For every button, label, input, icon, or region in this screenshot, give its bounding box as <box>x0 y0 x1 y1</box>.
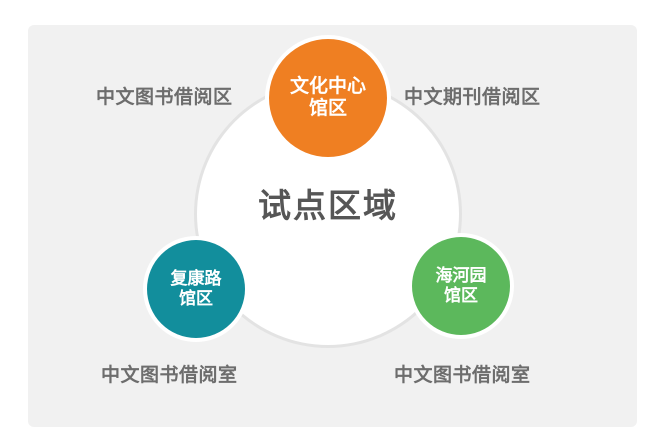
caption-top-left: 中文图书借阅区 <box>96 82 233 109</box>
slide-canvas: 试点区域 文化中心 馆区 复康路 馆区 海河园 馆区 中文图书借阅区 中文期刊借… <box>0 0 666 437</box>
caption-top-right: 中文期刊借阅区 <box>404 82 541 109</box>
hub-label: 试点区域 <box>197 186 459 226</box>
caption-bottom-left: 中文图书借阅室 <box>101 360 238 387</box>
node-fukang-road-label: 复康路 馆区 <box>171 269 222 309</box>
node-culture-center[interactable]: 文化中心 馆区 <box>269 39 387 157</box>
node-culture-center-label: 文化中心 馆区 <box>290 76 366 121</box>
caption-bottom-right: 中文图书借阅室 <box>394 360 531 387</box>
node-fukang-road[interactable]: 复康路 馆区 <box>147 240 245 338</box>
node-haiheyuan-label: 海河园 馆区 <box>436 266 487 306</box>
node-haiheyuan[interactable]: 海河园 馆区 <box>412 237 510 335</box>
